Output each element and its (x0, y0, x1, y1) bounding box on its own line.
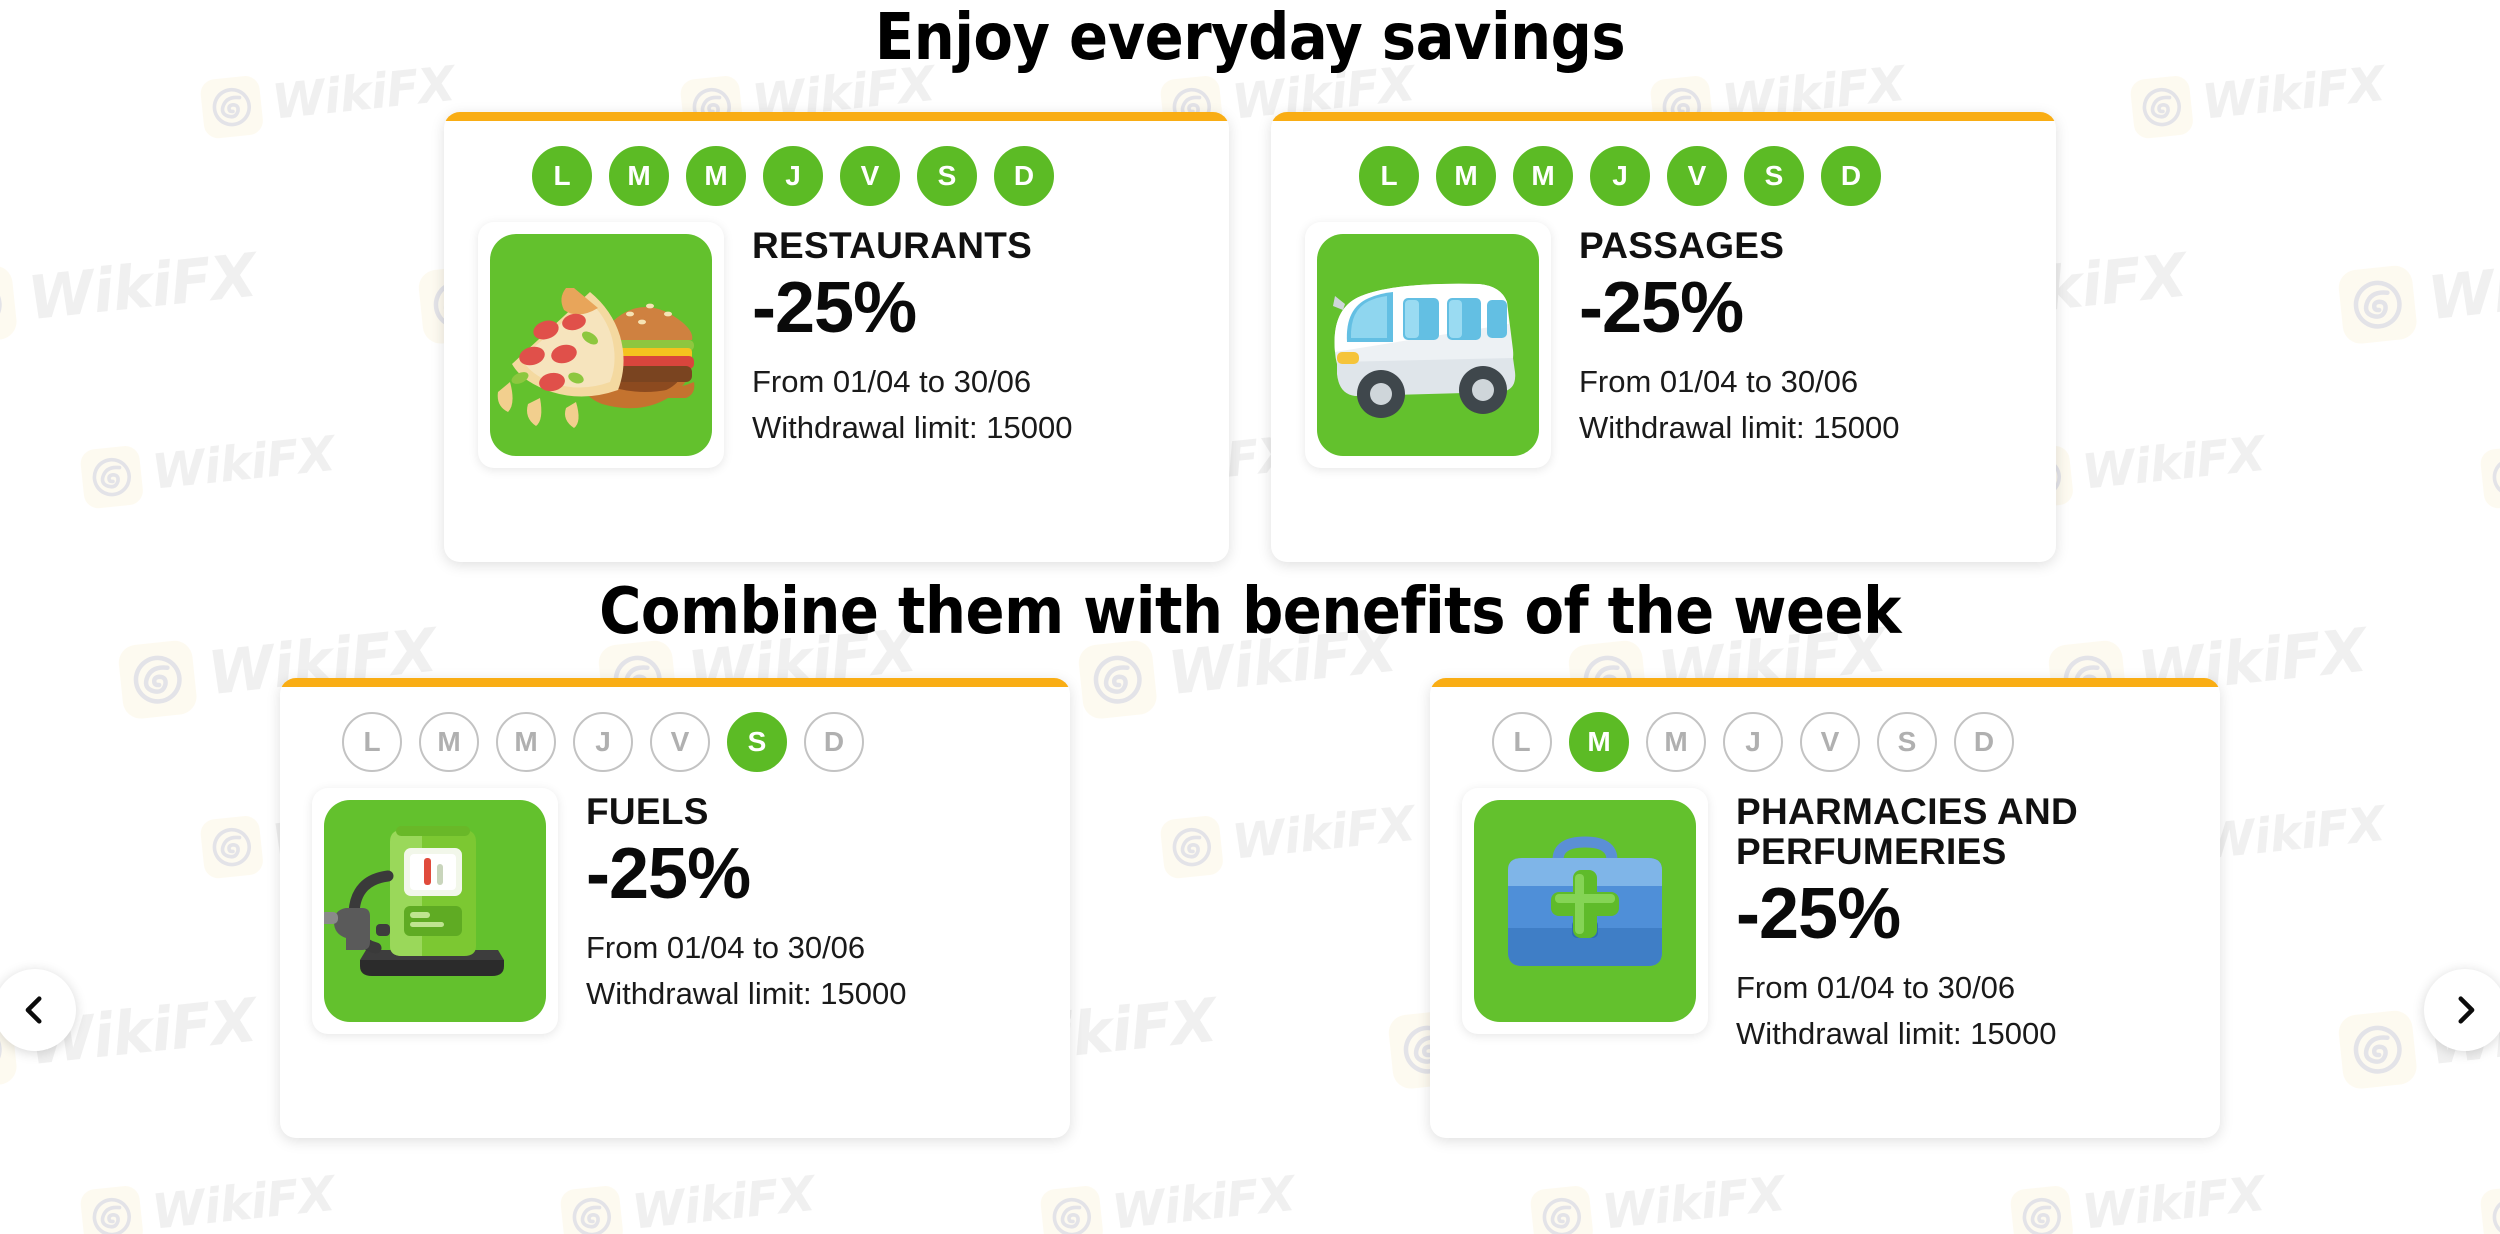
first-aid-kit-icon (1474, 800, 1696, 1022)
chevron-right-icon (2448, 993, 2482, 1027)
card-body: FUELS -25% From 01/04 to 30/06 Withdrawa… (280, 772, 1070, 1034)
category-name: RESTAURANTS (752, 226, 1072, 266)
promotions-carousel-page: Enjoy everyday savings L M M J V S D (0, 0, 2500, 1234)
promo-card-restaurants[interactable]: L M M J V S D (444, 112, 1229, 562)
day-chip-s[interactable]: S (1744, 146, 1804, 206)
card-text-block: PHARMACIES AND PERFUMERIES -25% From 01/… (1708, 788, 2220, 1054)
card-accent-bar (444, 112, 1229, 121)
validity-period: From 01/04 to 30/06 (1579, 362, 1899, 402)
promo-card-passages[interactable]: L M M J V S D (1271, 112, 2056, 562)
card-text-block: PASSAGES -25% From 01/04 to 30/06 Withdr… (1551, 222, 1899, 448)
withdrawal-limit: Withdrawal limit: 15000 (586, 974, 906, 1014)
day-chip-m2[interactable]: M (1513, 146, 1573, 206)
discount-value: -25% (1736, 876, 2220, 952)
discount-value: -25% (1579, 270, 1899, 346)
pizza-burger-hotdog-icon (490, 234, 712, 456)
carousel-next-button[interactable] (2424, 969, 2500, 1051)
validity-period: From 01/04 to 30/06 (1736, 968, 2220, 1008)
validity-period: From 01/04 to 30/06 (752, 362, 1072, 402)
category-name: PHARMACIES AND PERFUMERIES (1736, 792, 2220, 872)
day-chip-j[interactable]: J (1590, 146, 1650, 206)
promo-card-fuels[interactable]: L M M J V S D (280, 678, 1070, 1138)
card-accent-bar (1271, 112, 2056, 121)
card-accent-bar (1430, 678, 2220, 687)
day-chip-d[interactable]: D (994, 146, 1054, 206)
day-chip-m1[interactable]: M (1569, 712, 1629, 772)
day-chip-l[interactable]: L (1359, 146, 1419, 206)
day-chip-l[interactable]: L (342, 712, 402, 772)
card-body: RESTAURANTS -25% From 01/04 to 30/06 Wit… (444, 206, 1229, 468)
day-chip-m1[interactable]: M (1436, 146, 1496, 206)
card-accent-bar (280, 678, 1070, 687)
thumbnail-frame (1305, 222, 1551, 468)
category-name: PASSAGES (1579, 226, 1899, 266)
day-chip-m1[interactable]: M (609, 146, 669, 206)
day-chip-m2[interactable]: M (686, 146, 746, 206)
day-chip-j[interactable]: J (763, 146, 823, 206)
card-text-block: RESTAURANTS -25% From 01/04 to 30/06 Wit… (724, 222, 1072, 448)
day-chip-d[interactable]: D (1821, 146, 1881, 206)
thumbnail-frame (312, 788, 558, 1034)
card-text-block: FUELS -25% From 01/04 to 30/06 Withdrawa… (558, 788, 906, 1014)
page-title-weekly-benefits: Combine them with benefits of the week (0, 562, 2500, 644)
day-chip-d[interactable]: D (804, 712, 864, 772)
weekly-benefits-card-row: L M M J V S D (0, 678, 2500, 1138)
thumbnail-frame (478, 222, 724, 468)
day-chip-j[interactable]: J (1723, 712, 1783, 772)
card-body: PASSAGES -25% From 01/04 to 30/06 Withdr… (1271, 206, 2056, 468)
day-chip-v[interactable]: V (1667, 146, 1727, 206)
card-body: PHARMACIES AND PERFUMERIES -25% From 01/… (1430, 772, 2220, 1054)
thumbnail-frame (1462, 788, 1708, 1034)
day-chip-s[interactable]: S (727, 712, 787, 772)
discount-value: -25% (752, 270, 1072, 346)
day-chip-m2[interactable]: M (1646, 712, 1706, 772)
chevron-left-icon (18, 993, 52, 1027)
withdrawal-limit: Withdrawal limit: 15000 (1579, 408, 1899, 448)
fuel-pump-icon (324, 800, 546, 1022)
category-name: FUELS (586, 792, 906, 832)
day-chip-v[interactable]: V (1800, 712, 1860, 772)
day-chip-l[interactable]: L (532, 146, 592, 206)
validity-period: From 01/04 to 30/06 (586, 928, 906, 968)
day-chip-v[interactable]: V (650, 712, 710, 772)
day-chip-m1[interactable]: M (419, 712, 479, 772)
day-chip-v[interactable]: V (840, 146, 900, 206)
day-chip-m2[interactable]: M (496, 712, 556, 772)
discount-value: -25% (586, 836, 906, 912)
promo-card-pharmacies[interactable]: L M M J V S D (1430, 678, 2220, 1138)
day-selector-fuels: L M M J V S D (280, 687, 1070, 772)
day-chip-l[interactable]: L (1492, 712, 1552, 772)
day-chip-s[interactable]: S (1877, 712, 1937, 772)
day-chip-s[interactable]: S (917, 146, 977, 206)
day-chip-d[interactable]: D (1954, 712, 2014, 772)
page-title-everyday-savings: Enjoy everyday savings (0, 0, 2500, 70)
bus-icon (1317, 234, 1539, 456)
day-chip-j[interactable]: J (573, 712, 633, 772)
day-selector-restaurants: L M M J V S D (444, 121, 1229, 206)
withdrawal-limit: Withdrawal limit: 15000 (1736, 1014, 2220, 1054)
day-selector-pharmacies: L M M J V S D (1430, 687, 2220, 772)
day-selector-passages: L M M J V S D (1271, 121, 2056, 206)
withdrawal-limit: Withdrawal limit: 15000 (752, 408, 1072, 448)
everyday-savings-card-row: L M M J V S D (0, 112, 2500, 562)
